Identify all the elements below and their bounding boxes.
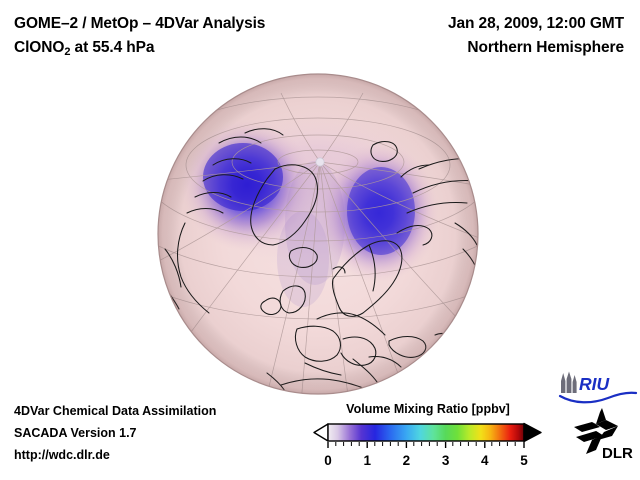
pressure-level-label: at 55.4 hPa [70, 39, 154, 56]
header-right-block: Jan 28, 2009, 12:00 GMT Northern Hemisph… [324, 12, 624, 60]
riu-tower-icon [561, 372, 577, 394]
colorbar-minor-ticks [336, 442, 515, 446]
colorbar-tick-3: 3 [442, 453, 450, 468]
hemisphere-label: Northern Hemisphere [324, 36, 624, 60]
globe-map [157, 73, 479, 395]
colorbar-tick-4: 4 [481, 453, 489, 468]
footer-line-assimilation: 4DVar Chemical Data Assimilation [14, 400, 314, 422]
footer-line-version: SACADA Version 1.7 [14, 422, 314, 444]
colorbar-major-ticks [328, 442, 524, 448]
timestamp-label: Jan 28, 2009, 12:00 GMT [324, 12, 624, 36]
colorbar-under-cap [314, 424, 328, 441]
footer-left-block: 4DVar Chemical Data Assimilation SACADA … [14, 400, 314, 466]
colorbar-tick-0: 0 [324, 453, 332, 468]
header-left-block: GOME–2 / MetOp – 4DVar Analysis ClONO2 a… [14, 12, 374, 61]
riu-wordmark: RIU [579, 374, 610, 394]
north-pole-marker [316, 158, 324, 166]
riu-logo: RIU [558, 371, 638, 405]
page-subtitle: ClONO2 at 55.4 hPa [14, 36, 374, 61]
colorbar-tick-labels: 0 1 2 3 4 5 [324, 453, 528, 468]
dlr-logo: DLR [566, 406, 636, 464]
dlr-wordmark: DLR [602, 445, 633, 462]
species-label: ClONO [14, 39, 64, 56]
page-title: GOME–2 / MetOp – 4DVar Analysis [14, 12, 374, 36]
riu-wave [560, 393, 636, 403]
footer-line-url[interactable]: http://wdc.dlr.de [14, 444, 314, 466]
colorbar: Volume Mixing Ratio [ppbv] [312, 400, 544, 474]
colorbar-title: Volume Mixing Ratio [ppbv] [312, 400, 544, 418]
colorbar-tick-2: 2 [403, 453, 411, 468]
colorbar-over-cap [524, 424, 541, 442]
species-subscript: 2 [64, 46, 70, 58]
colorbar-tick-1: 1 [363, 453, 371, 468]
colorbar-gradient [328, 424, 524, 441]
colorbar-tick-5: 5 [520, 453, 528, 468]
